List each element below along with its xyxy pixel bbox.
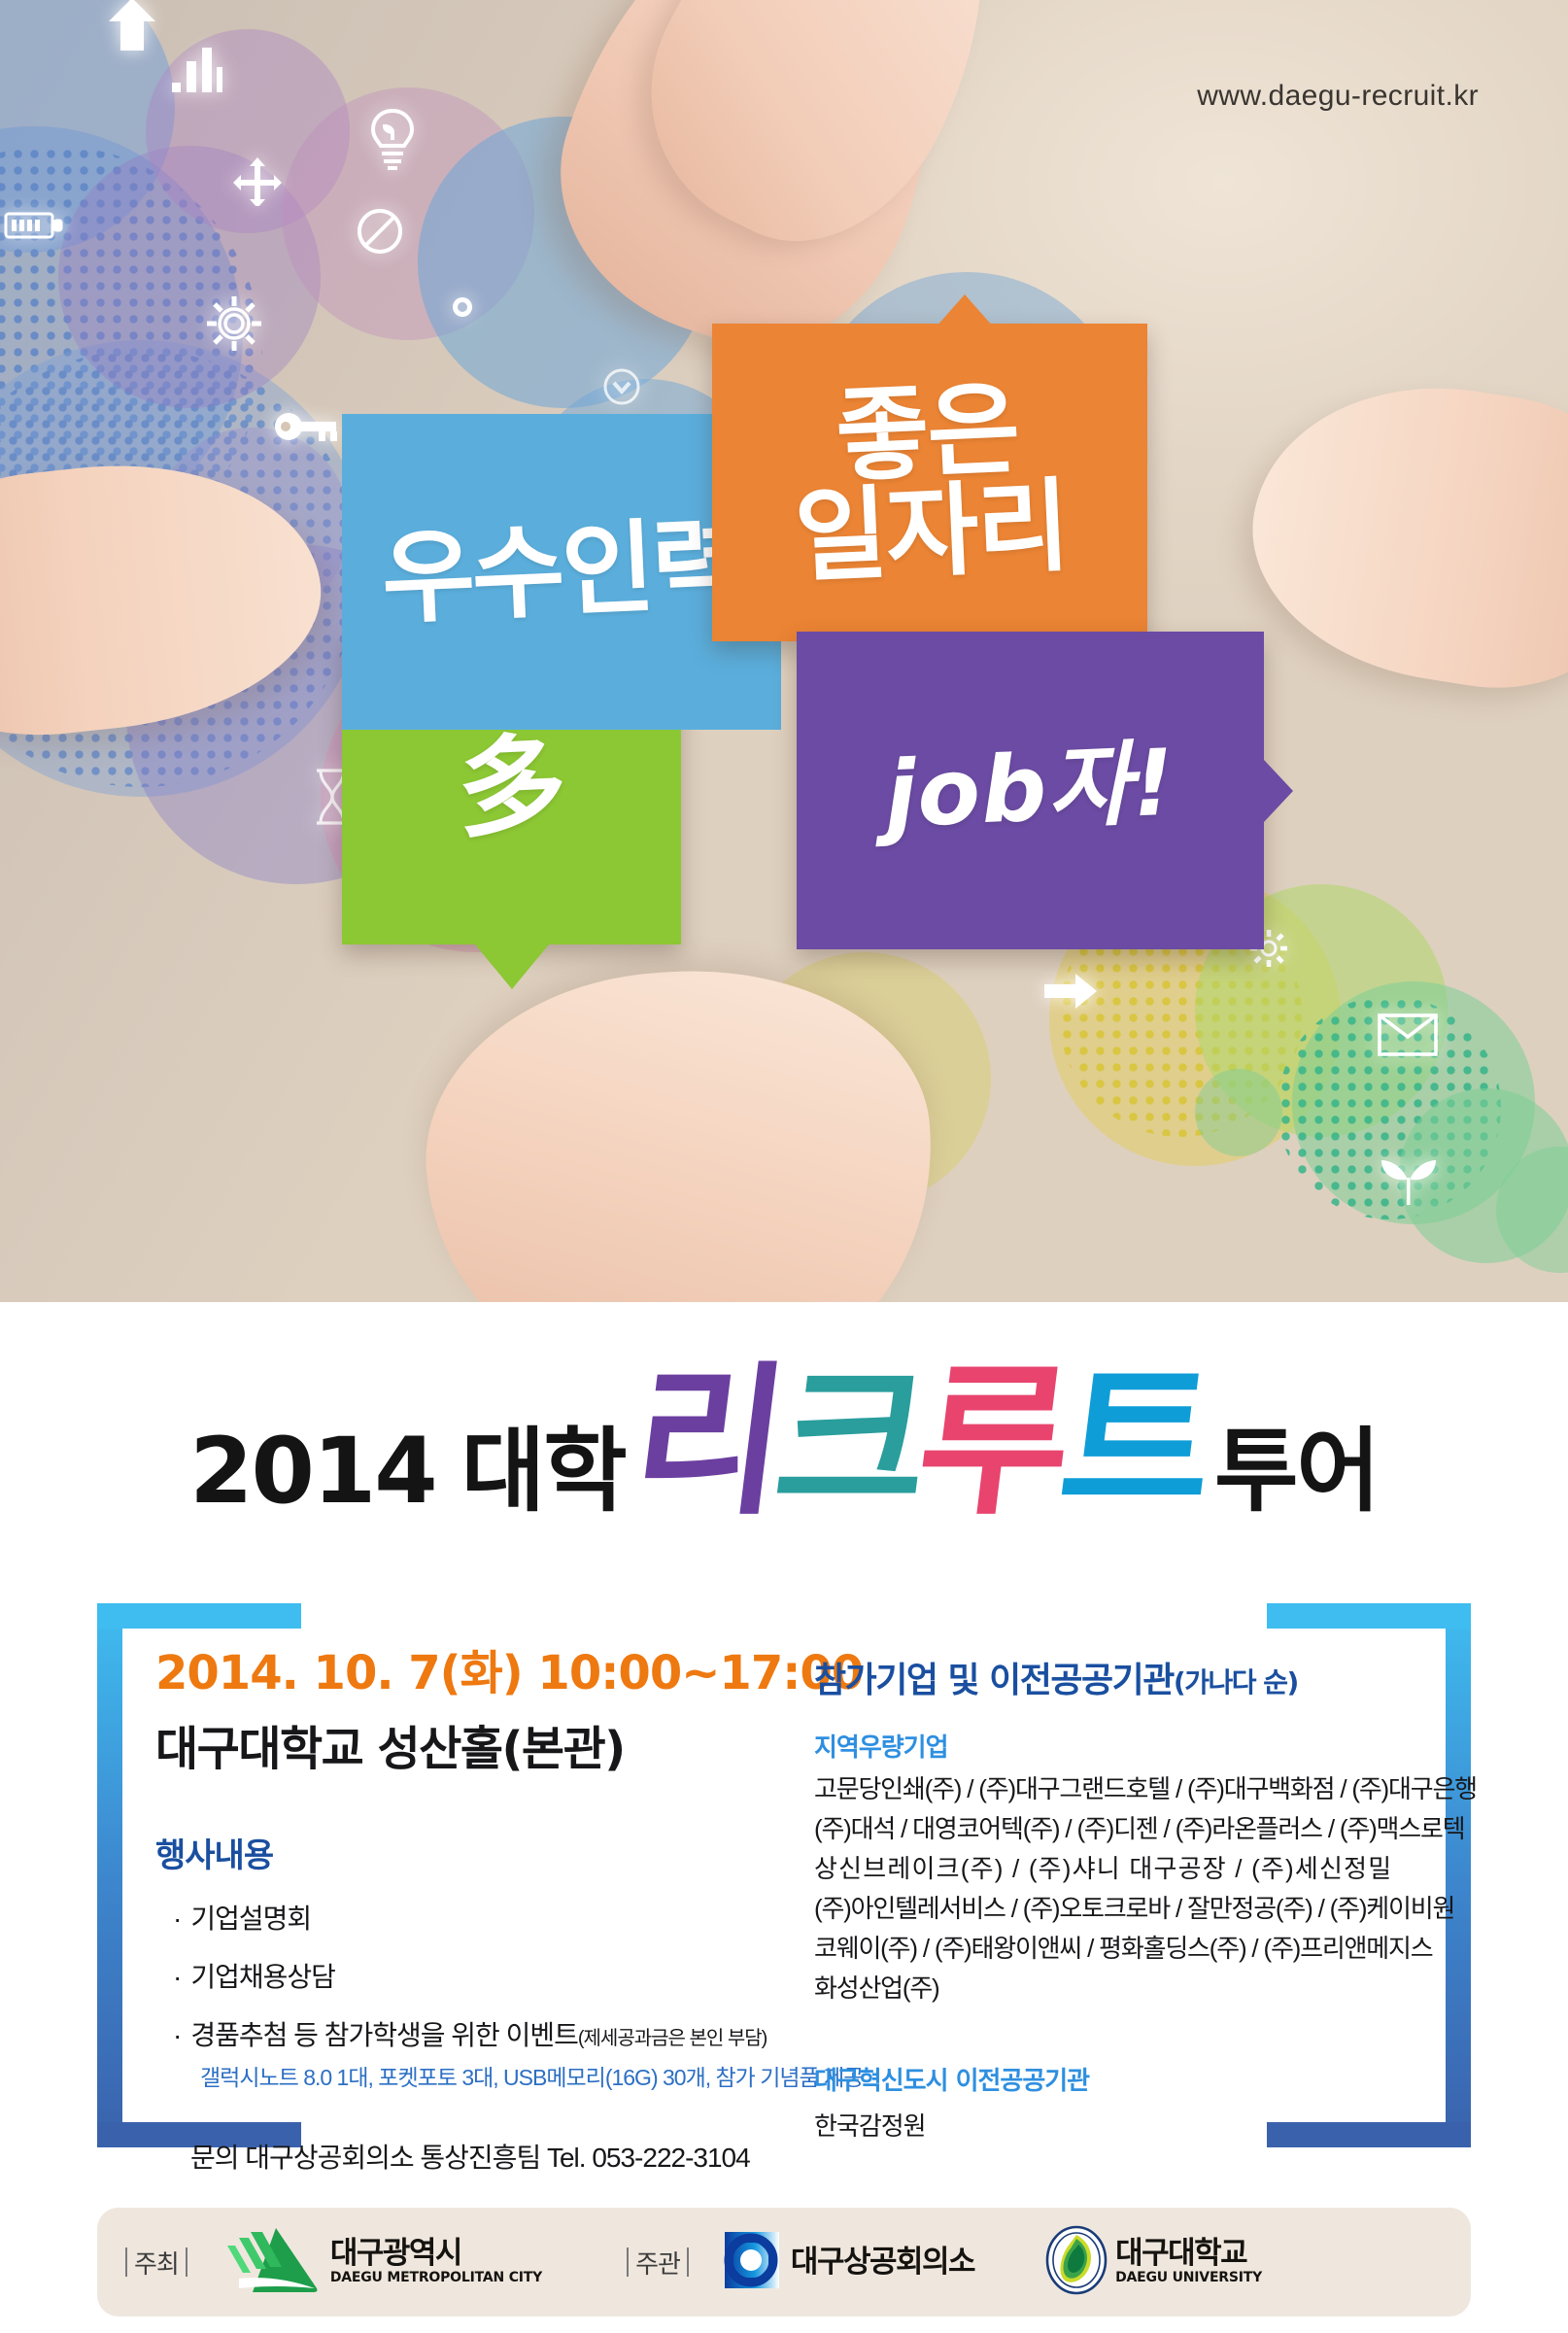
daegu-chamber-of-commerce-logo: 대구상공회의소 (717, 2226, 974, 2299)
bubble-tail-bottom (475, 944, 549, 989)
list-item: (주)아인텔레서비스 / (주)오토크로바 / 잘만정공(주) / (주)케이비… (814, 1889, 1436, 1929)
participants-heading-main: 참가기업 및 이전공공기관 (814, 1661, 1174, 1700)
bubble-excellent-talent-text: 우수인력 (380, 515, 744, 630)
daegu-city-text: 대구광역시 DAEGU METROPOLITAN CITY (330, 2238, 542, 2285)
participants-panel: 참가기업 및 이전공공기관(가나다 순) 지역우량기업 고문당인쇄(주) / (… (814, 1652, 1436, 2143)
daegu-city-mark-icon (220, 2224, 324, 2301)
university-ko: 대구대학교 (1115, 2238, 1262, 2270)
logo-char-1: 리 (625, 1360, 787, 1524)
list-item: (주)대석 / 대영코어텍(주) / (주)디젠 / (주)라온플러스 / (주… (814, 1809, 1436, 1849)
sponsor-footer: 주최 대구광역시 DAEGU METROPOLITAN CITY 주관 (97, 2208, 1471, 2316)
tag-bar-left (125, 2247, 127, 2277)
chevron-down-icon (602, 367, 641, 406)
university-text: 대구대학교 DAEGU UNIVERSITY (1115, 2238, 1262, 2285)
host-tag: 주최 (119, 2245, 194, 2281)
bubble-jobja: job자! (797, 632, 1264, 949)
key-icon (274, 408, 338, 445)
bubble-tail-top (936, 294, 994, 327)
bokeh-circle (1195, 1069, 1282, 1156)
poster-root: 多 우수인력 좋은 일자리 job자! www.daegu-recruit.kr… (0, 0, 1568, 2333)
leaf-icon (1380, 1156, 1438, 1207)
list-item: 코웨이(주) / (주)태왕이앤씨 / 평화홀딩스(주) / (주)프리앤메지스 (814, 1929, 1436, 1969)
chamber-gear-icon (717, 2226, 785, 2299)
chamber-ko: 대구상공회의소 (791, 2247, 974, 2279)
list-item: ·기업설명회 (173, 1898, 748, 1937)
event-date: 2014. 10. 7(화) 10:00~17:00 (155, 1634, 748, 1702)
bullet-dot: · (173, 2020, 181, 2050)
bracket-left-top-arm (97, 1603, 301, 1629)
bracket-left-vertical (97, 1603, 122, 2147)
gear-icon (204, 293, 264, 354)
logo-char-2: 크 (767, 1360, 930, 1524)
group-label-local-companies: 지역우량기업 (814, 1728, 1436, 1764)
prohibited-icon (356, 207, 404, 256)
move-arrows-icon (233, 157, 282, 206)
host-tag-label: 주최 (134, 2245, 179, 2281)
event-program-heading: 행사내용 (155, 1829, 748, 1876)
list-item: 상신브레이크(주) / (주)샤니 대구공장 / (주)세신정밀 (814, 1849, 1436, 1889)
tag-bar-left (627, 2247, 629, 2277)
university-en: DAEGU UNIVERSITY (1115, 2270, 1262, 2286)
daegu-university-logo: 대구대학교 DAEGU UNIVERSITY (1044, 2225, 1262, 2300)
arrow-up-icon (107, 0, 157, 52)
daegu-city-ko: 대구광역시 (330, 2238, 542, 2270)
page-title: 2014 대학 리크루트 투어 (0, 1360, 1568, 1524)
list-item: ·경품추첨 등 참가학생을 위한 이벤트(제세공과금은 본인 부담) (173, 2014, 748, 2053)
group-label-public-institutions: 대구혁신도시 이전공공기관 (814, 2061, 1436, 2097)
list-item: 화성산업(주) (814, 1969, 1436, 2008)
list-item: 고문당인쇄(주) / (주)대구그랜드호텔 / (주)대구백화점 / (주)대구… (814, 1769, 1436, 1809)
bracket-right-top-arm (1267, 1603, 1471, 1629)
battery-icon (4, 210, 64, 241)
bar-chart-icon (170, 44, 224, 94)
list-item-label: 경품추첨 등 참가학생을 위한 이벤트 (190, 2020, 578, 2050)
daegu-city-en: DAEGU METROPOLITAN CITY (330, 2270, 542, 2286)
title-tour: 투어 (1214, 1426, 1379, 1524)
logo-char-4: 트 (1052, 1360, 1214, 1524)
tag-bar-right (186, 2247, 187, 2277)
bubble-tail-right (1264, 760, 1293, 822)
public-institutions-list-item: 한국감정원 (814, 2107, 1436, 2143)
envelope-icon (1378, 1013, 1438, 1056)
hero-section: 多 우수인력 좋은 일자리 job자! www.daegu-recruit.kr (0, 0, 1568, 1302)
tag-bar-right (687, 2247, 689, 2277)
gear-small-icon (439, 284, 486, 330)
contact-info: 문의 대구상공회의소 통상진흥팀 Tel. 053-222-3104 (190, 2137, 748, 2176)
prize-detail: 갤럭시노트 8.0 1대, 포켓포토 3대, USB메모리(16G) 30개, … (200, 2059, 748, 2092)
organizer-tag: 주관 (620, 2245, 696, 2281)
bullet-dot: · (173, 1904, 181, 1934)
bubble-good-jobs-line2: 일자리 (793, 465, 1071, 596)
logo-char-3: 루 (909, 1360, 1072, 1524)
arrow-right-icon (1044, 972, 1099, 1011)
event-info-panel: 2014. 10. 7(화) 10:00~17:00 대구대학교 성산홀(본관)… (155, 1634, 748, 2176)
title-year: 2014 (189, 1426, 436, 1524)
local-companies-list: 고문당인쇄(주) / (주)대구그랜드호텔 / (주)대구백화점 / (주)대구… (814, 1769, 1436, 2008)
bubble-many-text: 多 (455, 734, 568, 845)
event-program-list: ·기업설명회 ·기업채용상담 ·경품추첨 등 참가학생을 위한 이벤트(제세공과… (155, 1898, 748, 2092)
bullet-dot: · (173, 1962, 181, 1992)
bubble-jobja-text: job자! (883, 739, 1176, 841)
list-item-label: 기업설명회 (190, 1904, 311, 1934)
university-seal-icon (1044, 2225, 1108, 2300)
event-venue: 대구대학교 성산홀(본관) (155, 1710, 748, 1778)
participants-heading: 참가기업 및 이전공공기관(가나다 순) (814, 1652, 1436, 1702)
organizer-tag-label: 주관 (635, 2245, 680, 2281)
bubble-good-jobs-text: 좋은 일자리 (789, 378, 1071, 588)
bubble-good-jobs: 좋은 일자리 (712, 324, 1147, 641)
bracket-right-vertical (1446, 1603, 1471, 2147)
title-logo-recruit: 리크루트 (625, 1360, 1214, 1524)
daegu-metropolitan-city-logo: 대구광역시 DAEGU METROPOLITAN CITY (220, 2224, 542, 2301)
lightbulb-icon (367, 107, 418, 173)
title-univ: 대학 (461, 1426, 626, 1524)
list-item: ·기업채용상담 (173, 1956, 748, 1995)
participants-heading-sub: (가나다 순) (1174, 1666, 1298, 1698)
list-item-note: (제세공과금은 본인 부담) (578, 2028, 767, 2049)
list-item-label: 기업채용상담 (190, 1962, 335, 1992)
site-url[interactable]: www.daegu-recruit.kr (1197, 80, 1479, 113)
